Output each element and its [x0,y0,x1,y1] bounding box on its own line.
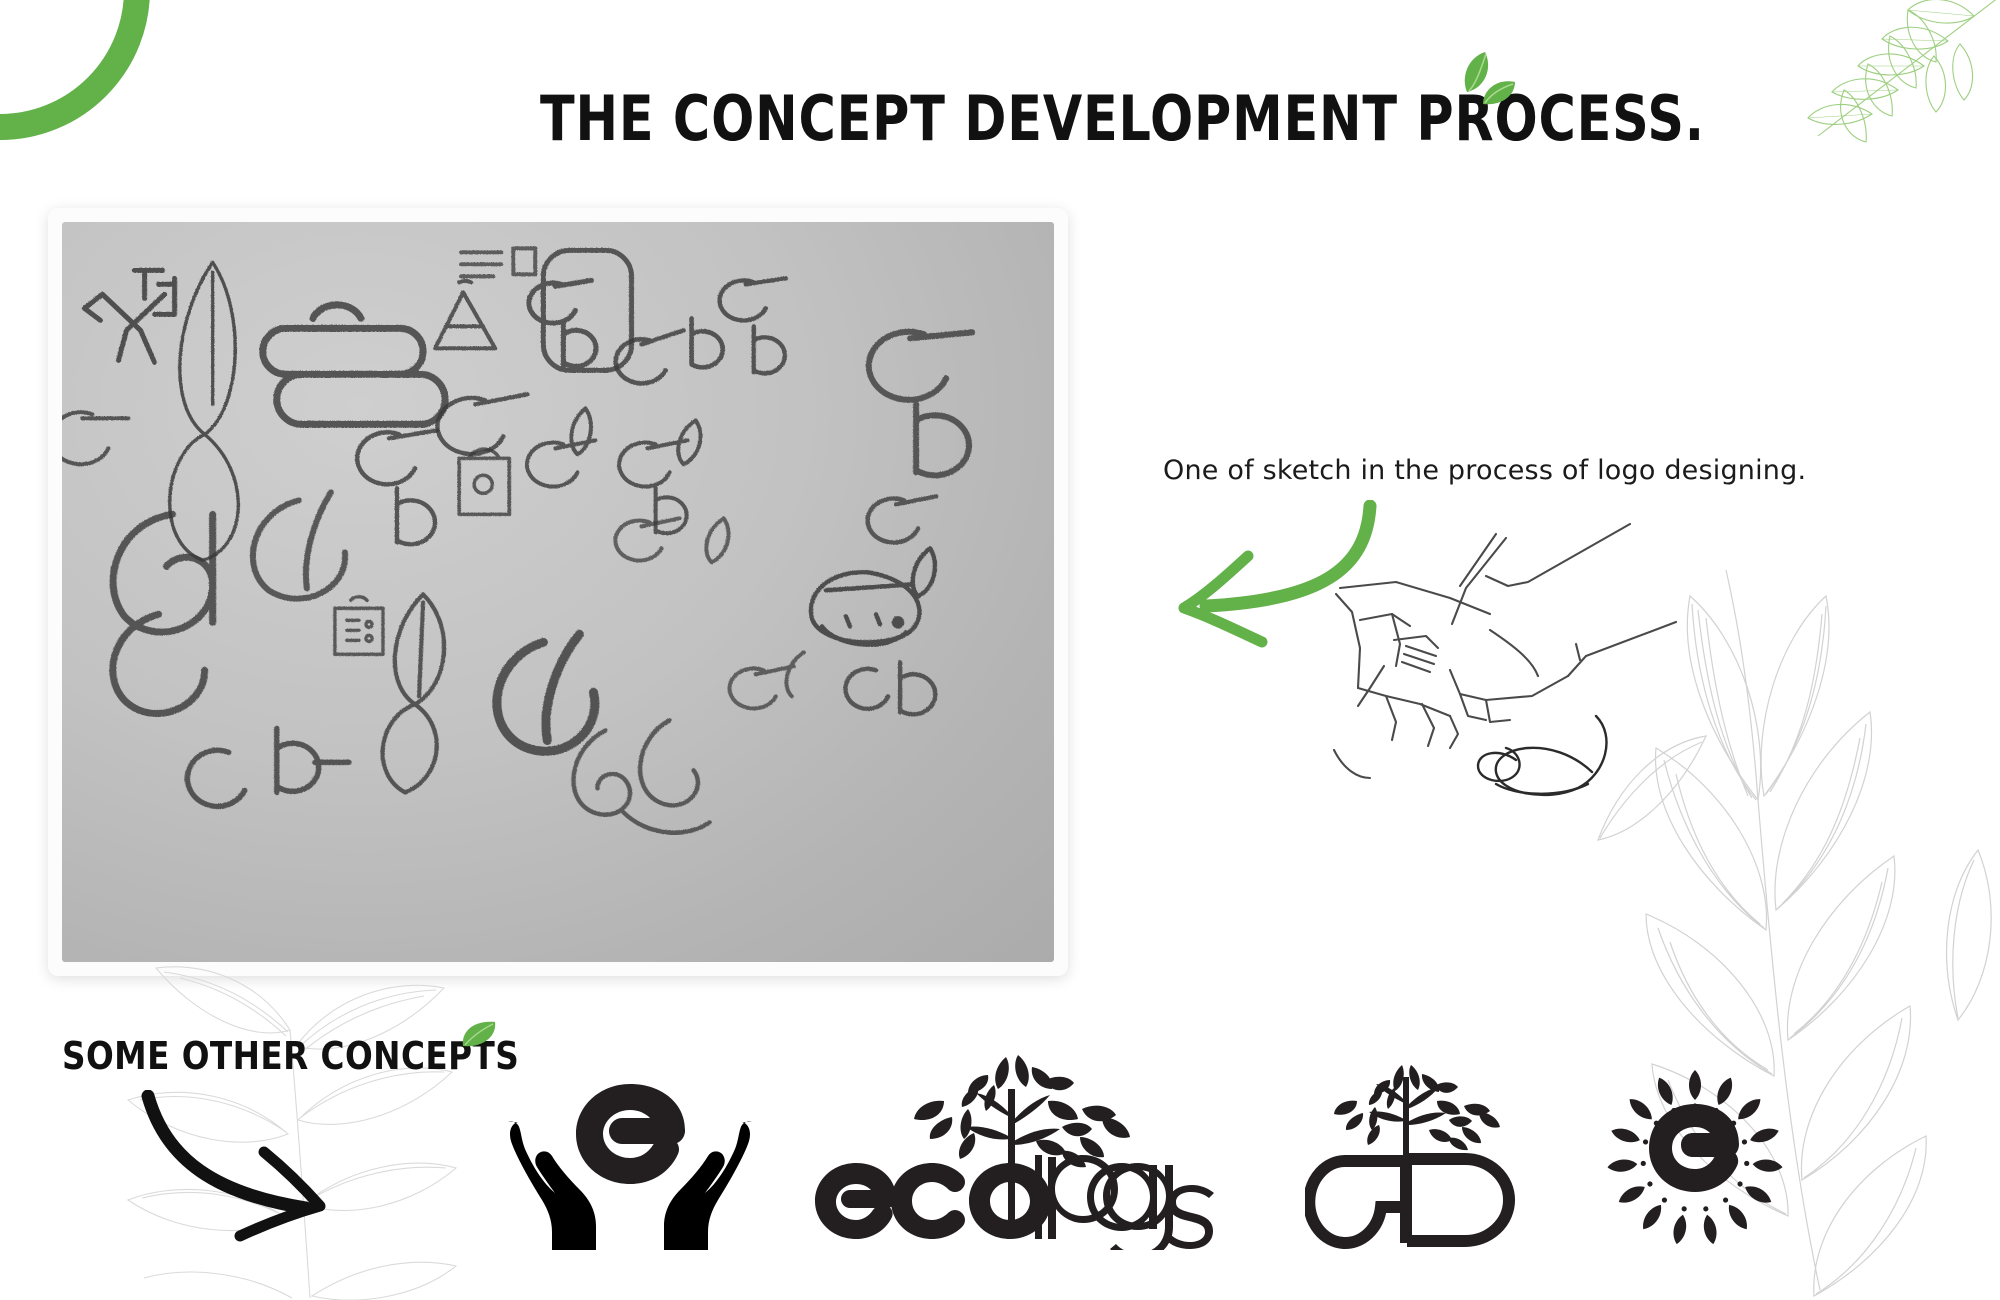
page-title: THE CONCEPT DEVELOPMENT PROCESS. [540,88,1360,150]
two-leaves-icon [1455,48,1525,118]
black-curved-arrow-icon [140,1090,370,1270]
green-circle-arc-icon [0,0,150,140]
sketch-photo [62,222,1054,962]
concept-logo-hands-e[interactable] [500,1070,760,1250]
sketch-caption: One of sketch in the process of logo des… [1163,455,1863,486]
slide-canvas: THE CONCEPT DEVELOPMENT PROCESS. [0,0,2000,1300]
concept-logo-e-sunburst[interactable] [1585,1060,1805,1255]
section-title: SOME OTHER CONCEPTS [62,1034,519,1078]
concept-logo-eb-tree[interactable] [1305,1065,1545,1250]
leaf-icon [455,1018,499,1058]
sketch-photo-frame [48,208,1068,976]
concept-logo-ecobags[interactable] [810,1045,1230,1250]
leaf-branch-icon [1778,0,2000,176]
